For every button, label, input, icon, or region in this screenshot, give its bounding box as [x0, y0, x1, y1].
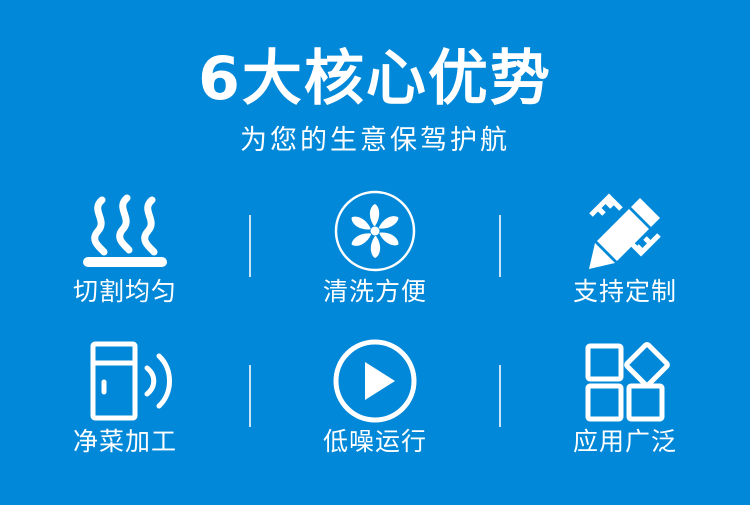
cabinet-signal-icon — [77, 335, 173, 427]
feature-item-cutting-uniform: 切割均匀 — [0, 185, 250, 335]
feature-item-vegetable-processing: 净菜加工 — [0, 335, 250, 485]
play-circle-icon — [332, 335, 418, 427]
feature-label: 净菜加工 — [73, 427, 177, 457]
feature-item-easy-clean: 清洗方便 — [250, 185, 500, 335]
feature-label: 清洗方便 — [323, 277, 427, 307]
page-title: 6大核心优势 — [0, 0, 750, 114]
pencil-ruler-icon — [579, 185, 671, 277]
feature-label: 低噪运行 — [323, 427, 427, 457]
feature-item-wide-application: 应用广泛 — [500, 335, 750, 485]
banner-header: 6大核心优势 为您的生意保驾护航 — [0, 0, 750, 158]
feature-label: 应用广泛 — [573, 427, 677, 457]
feature-label: 支持定制 — [573, 277, 677, 307]
squares-diamond-icon — [580, 335, 670, 427]
page-subtitle: 为您的生意保驾护航 — [0, 114, 750, 158]
steam-heat-icon — [77, 185, 173, 277]
feature-grid: 切割均匀 — [0, 185, 750, 495]
feature-label: 切割均匀 — [73, 277, 177, 307]
promo-banner: 6大核心优势 为您的生意保驾护航 切割均匀 — [0, 0, 750, 505]
feature-item-customization: 支持定制 — [500, 185, 750, 335]
fan-blades-circle-icon — [333, 185, 417, 277]
feature-item-low-noise: 低噪运行 — [250, 335, 500, 485]
